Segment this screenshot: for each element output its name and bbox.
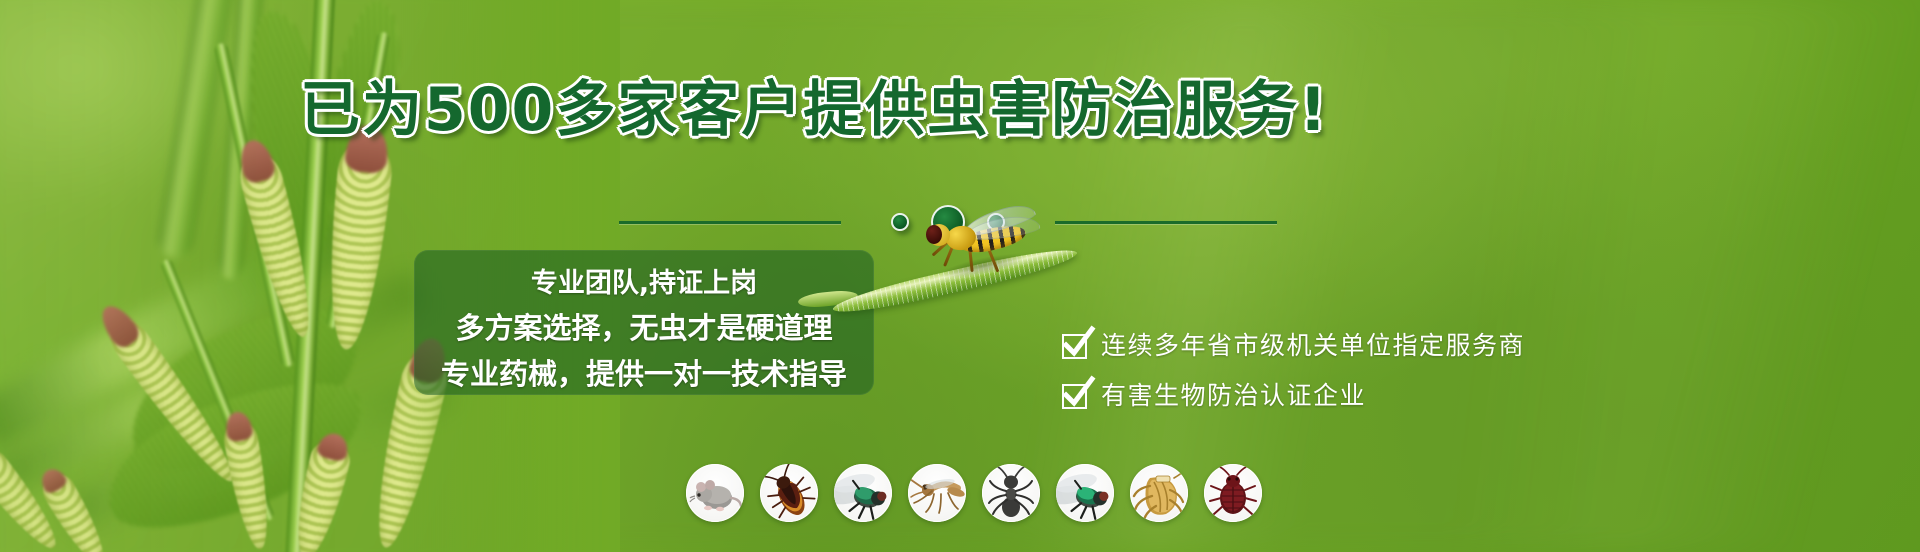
checklist-item: 有害生物防治认证企业 — [1062, 382, 1525, 410]
flea-icon[interactable]: 跳蚤 — [1130, 464, 1188, 522]
banner-headline: 已为500多家客户提供虫害防治服务! — [300, 74, 1600, 146]
pest-control-hero-banner: 已为500多家客户提供虫害防治服务! 专业团队,持证上岗 多方案选择，无虫才是硬… — [0, 0, 1920, 552]
checklist-item: 连续多年省市级机关单位指定服务商 — [1062, 332, 1525, 360]
hoverfly-on-leaf-illustration — [820, 200, 1120, 340]
bed-bug-icon[interactable]: 臭虫 — [1204, 464, 1262, 522]
pest-type-icon-row: 鼠 蟑螂 — [686, 464, 1262, 522]
mosquito-icon[interactable]: 蚊 — [908, 464, 966, 522]
cockroach-icon[interactable]: 蟑螂 — [760, 464, 818, 522]
claims-panel: 专业团队,持证上岗 多方案选择，无虫才是硬道理 专业药械，提供一对一技术指导 — [414, 250, 874, 395]
checklist-item-label: 有害生物防治认证企业 — [1101, 382, 1366, 410]
checklist-item-label: 连续多年省市级机关单位指定服务商 — [1101, 332, 1525, 360]
rodent-mouse-icon[interactable]: 鼠 — [686, 464, 744, 522]
claim-line-1: 专业团队,持证上岗 — [531, 264, 757, 304]
credentials-checklist: 连续多年省市级机关单位指定服务商 有害生物防治认证企业 — [1062, 332, 1525, 410]
ant-icon[interactable]: 蚂蚁 — [982, 464, 1040, 522]
greenbottle-fly-icon[interactable]: 绿头蝇 — [1056, 464, 1114, 522]
claim-line-3: 专业药械，提供一对一技术指导 — [441, 352, 847, 396]
checkbox-checked-icon — [1062, 384, 1087, 409]
divider-rule-left — [619, 221, 841, 224]
checkbox-checked-icon — [1062, 334, 1087, 359]
hoverfly-icon — [920, 208, 1040, 274]
claim-line-2: 多方案选择，无虫才是硬道理 — [455, 306, 832, 350]
housefly-icon[interactable]: 蝇 — [834, 464, 892, 522]
